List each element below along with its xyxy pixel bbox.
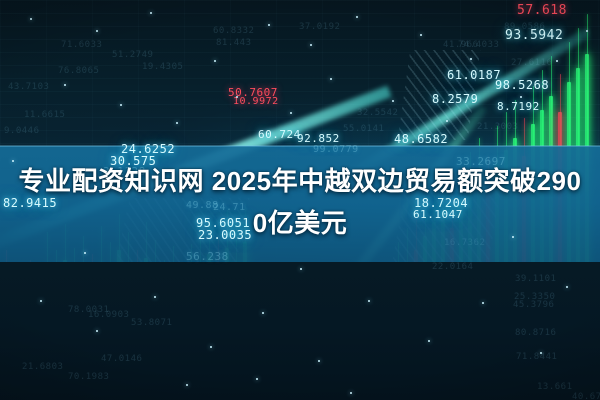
particle-speck [214, 60, 216, 62]
page-title-line-2: 0亿美元 [0, 202, 600, 244]
particle-speck [470, 58, 472, 60]
particle-speck [300, 268, 302, 270]
particle-speck [290, 112, 292, 114]
particle-speck [210, 346, 212, 348]
particle-speck [96, 330, 98, 332]
particle-speck [428, 340, 430, 342]
particle-speck [150, 12, 152, 14]
particle-speck [256, 378, 258, 380]
particle-speck [236, 96, 238, 98]
particle-speck [318, 360, 320, 362]
particle-speck [420, 34, 422, 36]
particle-speck [368, 300, 370, 302]
page-title: 专业配资知识网 2025年中越双边贸易额突破290 0亿美元 [0, 160, 600, 244]
banner-image: 93.594261.018798.52688.25798.719257.6184… [0, 0, 600, 400]
particle-speck [96, 30, 98, 32]
particle-speck [446, 120, 448, 122]
particle-speck [392, 100, 394, 102]
particle-speck [268, 24, 270, 26]
particle-speck [84, 252, 86, 254]
particle-speck [176, 122, 178, 124]
particle-speck [330, 78, 332, 80]
particle-speck [586, 30, 588, 32]
particle-speck [186, 384, 188, 386]
page-title-line-1: 专业配资知识网 2025年中越双边贸易额突破290 [0, 160, 600, 202]
particle-speck [154, 296, 156, 298]
particle-speck [520, 96, 522, 98]
particle-speck [310, 44, 312, 46]
particle-speck [30, 18, 32, 20]
particle-speck [356, 16, 358, 18]
particle-speck [566, 286, 568, 288]
particle-speck [540, 352, 542, 354]
particle-speck [482, 302, 484, 304]
particle-speck [64, 84, 66, 86]
particle-speck [556, 60, 558, 62]
particle-speck [40, 300, 42, 302]
particle-speck [262, 312, 264, 314]
particle-speck [120, 104, 122, 106]
particle-speck [350, 392, 352, 394]
